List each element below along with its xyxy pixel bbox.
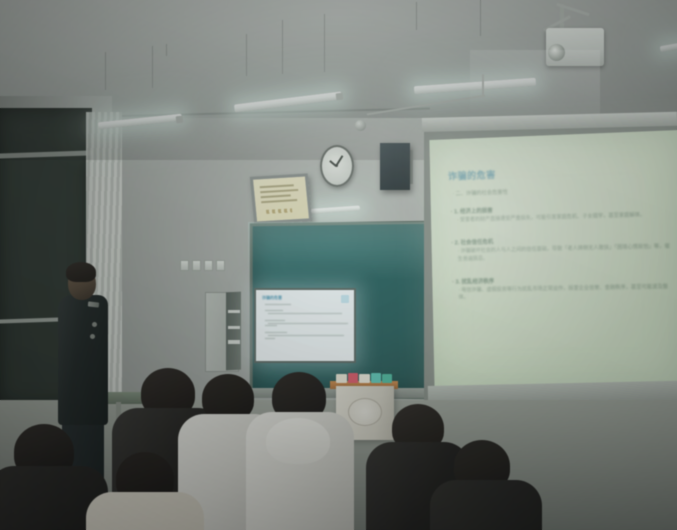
ceiling-cable (482, 74, 484, 98)
wall-switch[interactable] (204, 260, 213, 271)
projector-lens-icon (548, 44, 565, 61)
podium-item (348, 373, 358, 383)
slide-section-detail: · 电信诈骗、虚假投资等行为扰乱市场正常运作，损害企业信誉、金融秩序，甚至可能波… (458, 284, 672, 302)
certificate-seal-icon (266, 208, 292, 214)
podium-item (359, 374, 370, 383)
framed-certificate (250, 173, 313, 224)
audience-body (86, 492, 204, 530)
wall-switch[interactable] (216, 260, 225, 271)
cabinet-door[interactable] (226, 292, 241, 371)
slide-section: · 3. 扰乱经济秩序 · 电信诈骗、虚假投资等行为扰乱市场正常运作，损害企业信… (450, 273, 672, 302)
podium-emblem-icon (348, 398, 382, 426)
podium-item (336, 374, 347, 383)
podium-item (382, 374, 392, 383)
uniform-badge-icon (92, 322, 97, 327)
uniform-epaulette (88, 301, 99, 307)
cabinet-shelf (228, 326, 240, 329)
presenter-uniform-torso (58, 295, 108, 425)
blackboard-monitor[interactable]: 诈骗的危害 (254, 288, 356, 363)
slide-logo-icon (341, 295, 349, 303)
audience-body (430, 480, 542, 530)
classroom-photo: 诈骗的危害 诈骗的危害 · 二、诈骗的社会危害性 · 1. 经济上的损害 · 受… (0, 0, 677, 530)
monitor-slide: 诈骗的危害 (256, 290, 354, 361)
projected-slide: 诈骗的危害 · 二、诈骗的社会危害性 · 1. 经济上的损害 · 受害者的财产直… (429, 130, 677, 390)
slide-section: · 1. 经济上的损害 · 受害者的财产直接遭受严重损失，可能引发家庭危机、子女… (449, 201, 671, 225)
clock-center-pin (335, 164, 338, 167)
projection-screen: 诈骗的危害 · 二、诈骗的社会危害性 · 1. 经济上的损害 · 受害者的财产直… (429, 130, 677, 390)
uniform-badge-icon (90, 334, 95, 339)
wall-switch[interactable] (192, 260, 201, 271)
slide-title: 诈骗的危害 (448, 161, 670, 182)
monitor-slide-title: 诈骗的危害 (262, 295, 350, 301)
podium-item (371, 373, 381, 383)
hoodie-hood (266, 418, 330, 464)
slide-section: · 2. 社会信任危机 · 诈骗破坏社会的人与人之间的信任基础，导致「老人摔倒无… (449, 233, 671, 263)
presenter-hair (66, 262, 96, 282)
wall-speaker (380, 143, 410, 190)
slide-section-detail: · 诈骗破坏社会的人与人之间的信任基础，导致「老人摔倒无人敢扶」「困境心慌就怕」… (458, 244, 672, 264)
slide-lead-line: · 二、诈骗的社会危害性 (452, 183, 670, 197)
wall-clock (320, 145, 354, 187)
wall-switch[interactable] (180, 260, 189, 271)
cabinet-shelf (228, 310, 240, 313)
cabinet-shelf (228, 340, 240, 344)
ceiling-sensor-icon (355, 120, 366, 131)
